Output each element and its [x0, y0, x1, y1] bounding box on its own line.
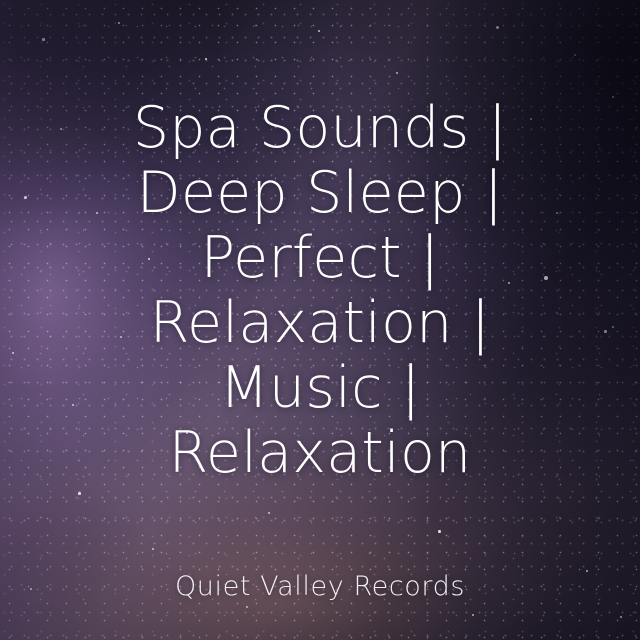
cover-text-block: Spa Sounds | Deep Sleep | Perfect | Rela… — [0, 0, 640, 640]
album-title: Spa Sounds | Deep Sleep | Perfect | Rela… — [40, 96, 600, 486]
album-cover: Spa Sounds | Deep Sleep | Perfect | Rela… — [0, 0, 640, 640]
artist-name: Quiet Valley Records — [0, 570, 640, 604]
